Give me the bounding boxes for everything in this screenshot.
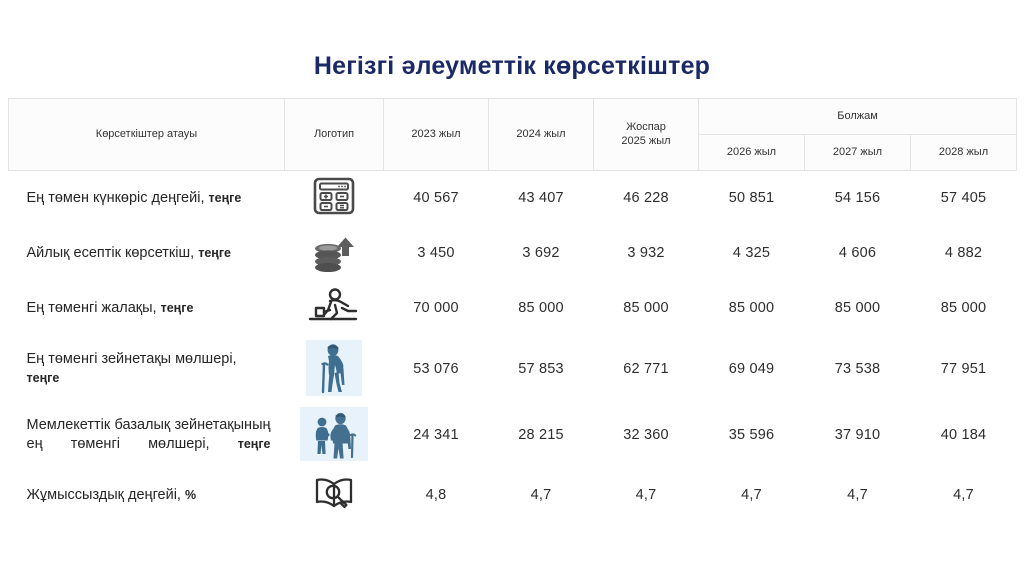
page-title: Негізгі әлеуметтік көрсеткіштер — [0, 52, 1024, 81]
book-magnifier-icon — [308, 472, 360, 514]
row-label: Ең төменгі жалақы, теңге — [9, 281, 285, 336]
table-row: Ең төмен күнкөріс деңгейі, теңге — [9, 171, 1017, 226]
cell-value: 70 000 — [384, 281, 489, 336]
cell-value: 4 325 — [699, 226, 805, 281]
social-indicators-table: Көрсеткіштер атауы Логотип 2023 жыл 2024… — [8, 98, 1017, 523]
cell-value: 28 215 — [489, 402, 594, 468]
header-year-2026: 2026 жыл — [699, 135, 805, 171]
cell-value: 57 405 — [911, 171, 1017, 226]
cell-value: 4 606 — [805, 226, 911, 281]
table-row: Ең төменгі зейнетақы мөлшері, теңге — [9, 336, 1017, 402]
cell-value: 57 853 — [489, 336, 594, 402]
cell-value: 32 360 — [594, 402, 699, 468]
cell-value: 4,8 — [384, 468, 489, 523]
row-logo-cell — [285, 281, 384, 336]
cell-value: 37 910 — [805, 402, 911, 468]
table-body: Ең төмен күнкөріс деңгейі, теңге — [9, 171, 1017, 523]
cell-value: 85 000 — [594, 281, 699, 336]
row-label-text: Жұмыссыздық деңгейі, — [27, 487, 181, 503]
cell-value: 77 951 — [911, 336, 1017, 402]
cell-value: 46 228 — [594, 171, 699, 226]
header-plan-line1: Жоспар — [626, 121, 666, 133]
worker-walking-icon — [306, 286, 362, 326]
row-label-text: Ең төменгі зейнетақы мөлшері, — [27, 351, 237, 367]
row-logo-cell — [285, 402, 384, 468]
table-row: Мемлекеттік базалық зейнетақының ең төме… — [9, 402, 1017, 468]
row-label-unit: теңге — [161, 301, 194, 315]
header-year-2023: 2023 жыл — [384, 99, 489, 171]
cell-value: 40 567 — [384, 171, 489, 226]
row-logo-cell — [285, 336, 384, 402]
header-logo: Логотип — [285, 99, 384, 171]
cell-value: 85 000 — [699, 281, 805, 336]
cell-value: 85 000 — [911, 281, 1017, 336]
row-label-unit: теңге — [238, 437, 271, 451]
cell-value: 85 000 — [489, 281, 594, 336]
cell-value: 85 000 — [805, 281, 911, 336]
row-label-text: Мемлекеттік базалық зейнетақының ең төме… — [27, 417, 271, 452]
header-year-2024: 2024 жыл — [489, 99, 594, 171]
cell-value: 4,7 — [489, 468, 594, 523]
row-label-unit: % — [185, 488, 196, 502]
row-label: Ең төменгі зейнетақы мөлшері, теңге — [9, 336, 285, 402]
row-label-unit: теңге — [209, 191, 242, 205]
row-label-text: Ең төменгі жалақы, — [27, 300, 157, 316]
elderly-with-cane-icon — [306, 340, 362, 396]
table-row: Жұмыссыздық деңгейі, % 4 — [9, 468, 1017, 523]
header-plan-line2: 2025 жыл — [621, 135, 670, 147]
cell-value: 3 692 — [489, 226, 594, 281]
row-label: Мемлекеттік базалық зейнетақының ең төме… — [9, 402, 285, 468]
cell-value: 35 596 — [699, 402, 805, 468]
row-label-text: Айлық есептік көрсеткіш, — [27, 245, 195, 261]
cell-value: 62 771 — [594, 336, 699, 402]
cell-value: 4,7 — [594, 468, 699, 523]
indicators-table-wrapper: Көрсеткіштер атауы Логотип 2023 жыл 2024… — [8, 98, 1016, 523]
row-label: Айлық есептік көрсеткіш, теңге — [9, 226, 285, 281]
header-year-2027: 2027 жыл — [805, 135, 911, 171]
elder-and-child-icon — [300, 407, 368, 461]
row-label-unit: теңге — [198, 246, 231, 260]
cell-value: 54 156 — [805, 171, 911, 226]
cell-value: 3 932 — [594, 226, 699, 281]
row-label-text: Ең төмен күнкөріс деңгейі, — [27, 190, 205, 206]
table-header: Көрсеткіштер атауы Логотип 2023 жыл 2024… — [9, 99, 1017, 171]
cell-value: 4,7 — [911, 468, 1017, 523]
calculator-icon — [311, 176, 357, 216]
cell-value: 4,7 — [699, 468, 805, 523]
cell-value: 3 450 — [384, 226, 489, 281]
cell-value: 73 538 — [805, 336, 911, 402]
row-label: Жұмыссыздық деңгейі, % — [9, 468, 285, 523]
cell-value: 69 049 — [699, 336, 805, 402]
header-plan-2025: Жоспар 2025 жыл — [594, 99, 699, 171]
row-logo-cell — [285, 226, 384, 281]
coins-up-arrow-icon — [308, 230, 360, 272]
header-row-top: Көрсеткіштер атауы Логотип 2023 жыл 2024… — [9, 99, 1017, 135]
row-logo-cell — [285, 171, 384, 226]
cell-value: 24 341 — [384, 402, 489, 468]
table-row: Ең төменгі жалақы, теңге — [9, 281, 1017, 336]
cell-value: 50 851 — [699, 171, 805, 226]
row-label-unit: теңге — [27, 371, 60, 385]
cell-value: 4,7 — [805, 468, 911, 523]
row-label: Ең төмен күнкөріс деңгейі, теңге — [9, 171, 285, 226]
table-row: Айлық есептік көрсеткіш, теңге 3 450 3 6… — [9, 226, 1017, 281]
row-logo-cell — [285, 468, 384, 523]
cell-value: 40 184 — [911, 402, 1017, 468]
header-forecast-group: Болжам — [699, 99, 1017, 135]
cell-value: 43 407 — [489, 171, 594, 226]
cell-value: 4 882 — [911, 226, 1017, 281]
header-indicator-name: Көрсеткіштер атауы — [9, 99, 285, 171]
cell-value: 53 076 — [384, 336, 489, 402]
header-year-2028: 2028 жыл — [911, 135, 1017, 171]
